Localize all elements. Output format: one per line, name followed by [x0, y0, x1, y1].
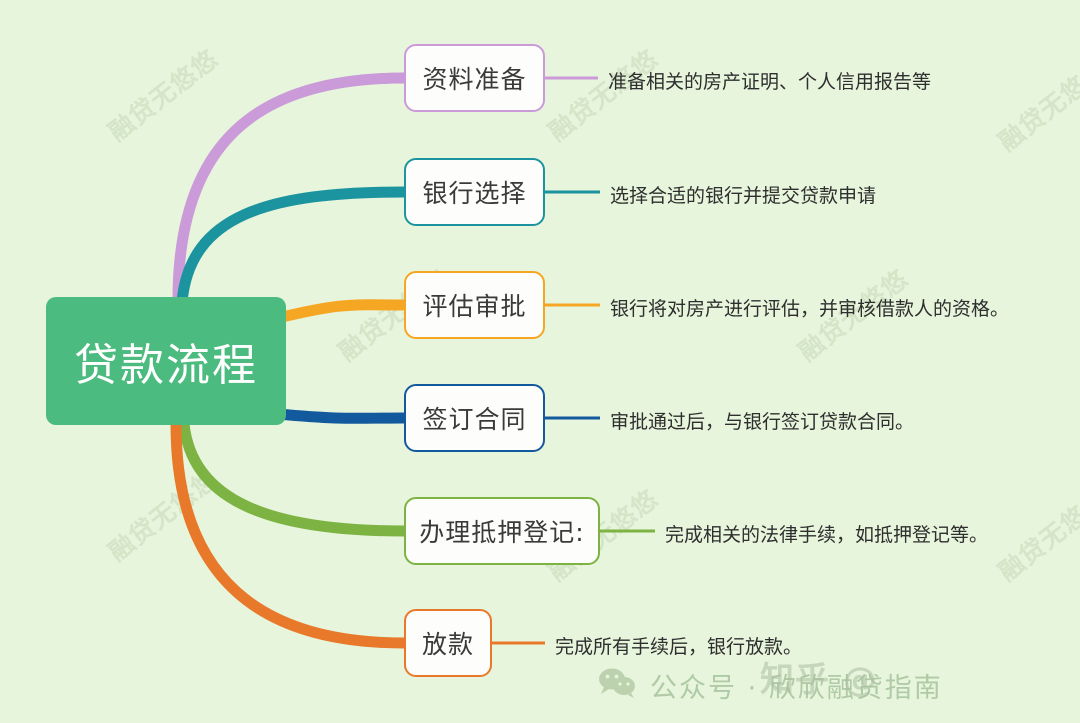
connector-curve-2 — [182, 192, 404, 302]
branch-node-label: 评估审批 — [422, 287, 526, 323]
branch-node-1[interactable]: 资料准备 — [404, 44, 545, 112]
connector-curve-5 — [184, 424, 404, 531]
branch-node-4[interactable]: 签订合同 — [404, 384, 545, 452]
central-node[interactable]: 贷款流程 — [46, 297, 286, 425]
branch-node-label: 办理抵押登记: — [419, 513, 584, 549]
branch-node-label: 银行选择 — [422, 174, 526, 210]
branch-node-label: 放款 — [422, 625, 474, 661]
branch-node-3[interactable]: 评估审批 — [404, 271, 545, 339]
connector-curve-3 — [278, 305, 404, 318]
branch-node-label: 资料准备 — [422, 60, 526, 96]
branch-description-3: 银行将对房产进行评估，并审核借款人的资格。 — [610, 294, 1009, 321]
zhihu-watermark: 知乎 @ — [760, 652, 878, 701]
mindmap-canvas: 融贷无悠悠 融贷无悠悠 融贷无悠悠 融贷无悠悠 融贷无悠悠 融贷无悠悠 融贷无悠… — [0, 0, 1080, 723]
connector-curve-4 — [278, 414, 404, 418]
branch-node-2[interactable]: 银行选择 — [404, 158, 545, 226]
branch-node-6[interactable]: 放款 — [404, 609, 492, 677]
branch-description-2: 选择合适的银行并提交贷款申请 — [610, 181, 876, 208]
central-node-label: 贷款流程 — [74, 329, 258, 393]
branch-description-5: 完成相关的法律手续，如抵押登记等。 — [665, 520, 988, 547]
branch-description-4: 审批通过后，与银行签订贷款合同。 — [610, 407, 914, 434]
branch-node-label: 签订合同 — [422, 400, 526, 436]
branch-node-5[interactable]: 办理抵押登记: — [404, 497, 600, 565]
branch-description-1: 准备相关的房产证明、个人信用报告等 — [608, 67, 931, 94]
wechat-icon — [598, 667, 638, 704]
